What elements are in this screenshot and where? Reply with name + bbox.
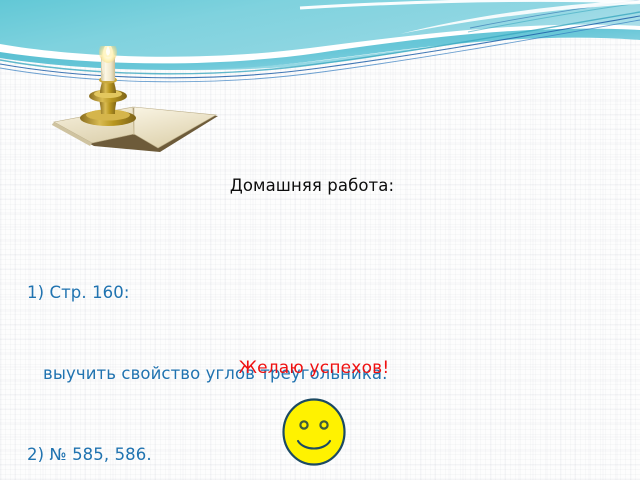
good-luck-text: Желаю успехов! — [239, 358, 390, 378]
smiley-eye-right — [320, 421, 327, 428]
homework-title: Домашняя работа: — [0, 176, 640, 195]
smiley-eye-left — [300, 421, 307, 428]
slide-canvas: Домашняя работа: 1) Стр. 160: выучить св… — [0, 0, 640, 480]
good-luck-message: Желаю успехов! — [0, 358, 640, 378]
smiley-face — [284, 400, 345, 465]
homework-title-text: Домашняя работа: — [230, 176, 394, 195]
task-line-1: 1) Стр. 160: — [27, 279, 587, 306]
smiley-face-icon — [281, 398, 347, 466]
slide-content: Домашняя работа: 1) Стр. 160: выучить св… — [0, 0, 640, 480]
